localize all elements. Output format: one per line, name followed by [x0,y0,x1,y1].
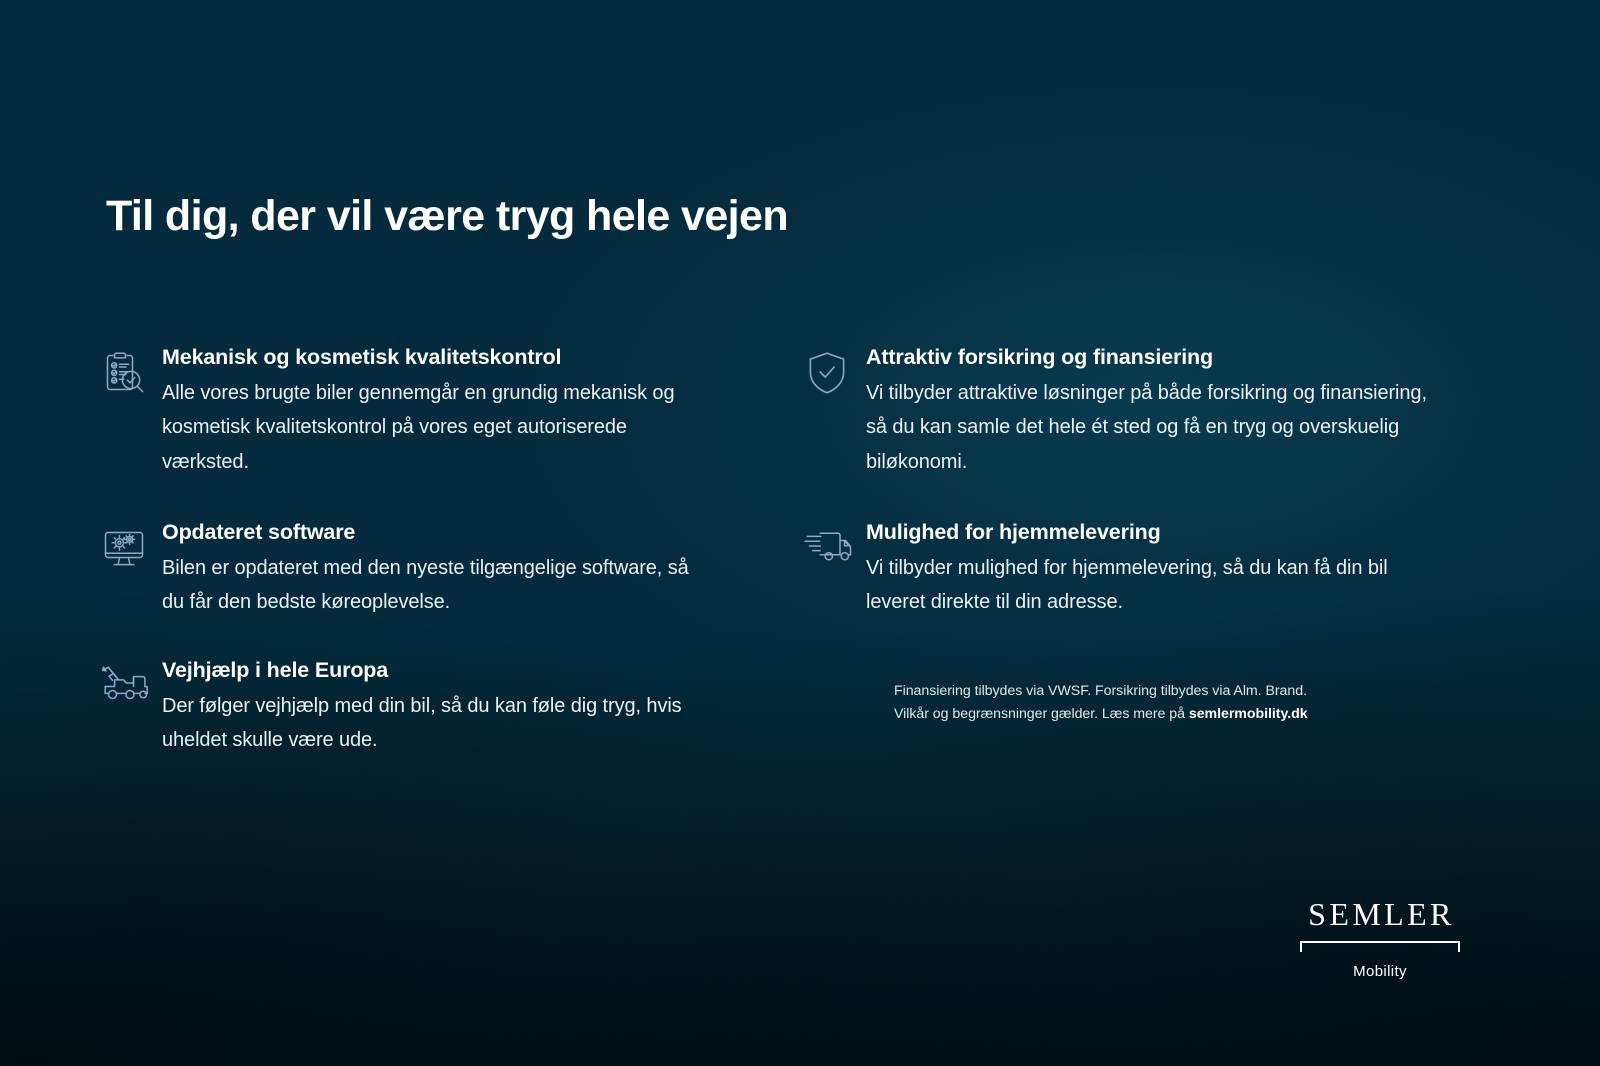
feature-quality-control: Mekanisk og kosmetisk kvalitetskontrol A… [100,344,760,479]
logo-rule-tick-left [1300,941,1302,952]
clipboard-check-magnifier-icon [100,344,162,397]
feature-title: Mekanisk og kosmetisk kvalitetskontrol [162,344,707,371]
delivery-truck-icon [804,519,866,566]
logo-subtitle: Mobility [1300,963,1460,980]
legal-disclaimer: Finansiering tilbydes via VWSF. Forsikri… [894,680,1454,726]
feature-title: Opdateret software [162,519,707,546]
feature-description: Vi tilbyder attraktive løsninger på både… [866,376,1452,479]
feature-text: Attraktiv forsikring og finansiering Vi … [866,344,1452,479]
feature-home-delivery: Mulighed for hjemmelevering Vi tilbyder … [804,519,1504,620]
feature-title: Vejhjælp i hele Europa [162,657,707,684]
feature-insurance-financing: Attraktiv forsikring og finansiering Vi … [804,344,1504,479]
disclaimer-line-2-prefix: Vilkår og begrænsninger gælder. Læs mere… [894,706,1189,722]
semler-mobility-logo: SEMLER Mobility [1300,898,1460,980]
features-column-left: Mekanisk og kosmetisk kvalitetskontrol A… [100,344,760,757]
feature-description: Der følger vejhjælp med din bil, så du k… [162,689,707,758]
logo-rule-tick-right [1458,941,1460,952]
features-column-right: Attraktiv forsikring og finansiering Vi … [804,344,1504,726]
feature-updated-software: Opdateret software Bilen er opdateret me… [100,519,760,620]
feature-text: Mulighed for hjemmelevering Vi tilbyder … [866,519,1452,620]
feature-title: Mulighed for hjemmelevering [866,519,1452,546]
feature-roadside-assistance: Vejhjælp i hele Europa Der følger vejhjæ… [100,657,760,758]
shield-check-icon [804,344,866,397]
tow-truck-icon [100,657,162,706]
disclaimer-line-1: Finansiering tilbydes via VWSF. Forsikri… [894,683,1307,699]
logo-divider-rule [1300,941,1460,953]
feature-text: Mekanisk og kosmetisk kvalitetskontrol A… [162,344,707,479]
feature-description: Alle vores brugte biler gennemgår en gru… [162,376,707,479]
feature-text: Opdateret software Bilen er opdateret me… [162,519,707,620]
slide-root: Til dig, der vil være tryg hele vejen [0,0,1600,1066]
page-title: Til dig, der vil være tryg hele vejen [106,192,788,241]
feature-description: Vi tilbyder mulighed for hjemmelevering,… [866,551,1452,620]
monitor-gears-icon [100,519,162,572]
logo-wordmark: SEMLER [1300,898,1460,930]
feature-description: Bilen er opdateret med den nyeste tilgæn… [162,551,707,620]
disclaimer-website-link[interactable]: semlermobility.dk [1189,706,1308,722]
feature-title: Attraktiv forsikring og finansiering [866,344,1452,371]
feature-text: Vejhjælp i hele Europa Der følger vejhjæ… [162,657,707,758]
